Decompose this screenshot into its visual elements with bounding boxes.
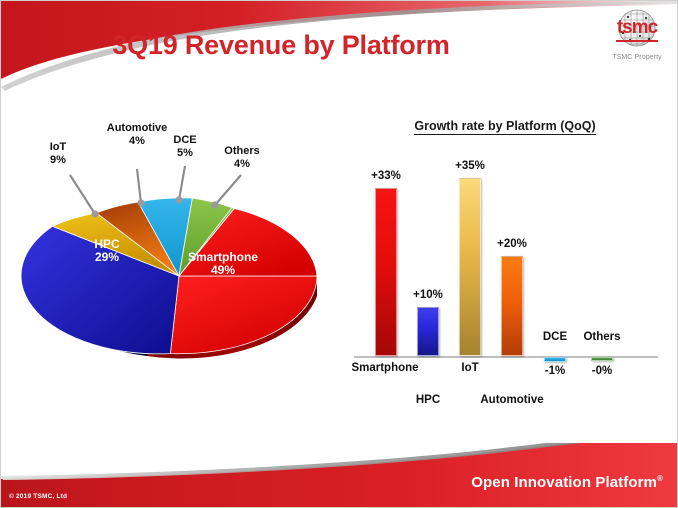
pie-label-automotive-name: Automotive — [107, 122, 168, 134]
slide-canvas: 3Q19 Revenue by Platform — [0, 0, 678, 508]
bar-value-hpc: +10% — [394, 289, 462, 301]
pie-label-smartphone-pct: 49% — [174, 264, 272, 277]
tsmc-logo-underline — [616, 40, 658, 42]
pie-label-others: Others 4% — [214, 145, 270, 170]
growth-bar-chart: Growth rate by Platform (QoQ) +33% Smart… — [346, 119, 664, 404]
bar-category-iot: IoT — [448, 362, 492, 374]
bar-chart-title-text: Growth rate by Platform (QoQ) — [414, 119, 595, 135]
pie-label-others-pct: 4% — [214, 158, 270, 171]
pie-label-iot-pct: 9% — [35, 154, 81, 167]
pie-label-others-name: Others — [224, 145, 259, 157]
bar-smartphone[interactable] — [375, 188, 397, 356]
bar-category-automotive: Automotive — [472, 394, 552, 406]
bar-automotive[interactable] — [501, 256, 523, 356]
page-title: 3Q19 Revenue by Platform — [1, 30, 561, 61]
tsmc-logo-mark: tsmc — [609, 9, 665, 53]
registered-mark-icon: ® — [657, 474, 663, 483]
pie-label-iot: IoT 9% — [35, 141, 81, 166]
pie-label-iot-name: IoT — [50, 141, 67, 153]
pie-wedge-smartphone — [170, 276, 317, 354]
bar-others[interactable] — [591, 357, 613, 361]
tsmc-property-caption: TSMC Property — [601, 54, 673, 61]
tsmc-wordmark: tsmc — [609, 18, 665, 37]
bar-category-smartphone: Smartphone — [344, 362, 426, 374]
revenue-pie-chart: IoT 9% Automotive 4% DCE 5% Others 4% HP… — [19, 113, 339, 363]
pie-label-smartphone: Smartphone 49% — [174, 251, 272, 276]
bar-value-iot: +35% — [436, 160, 504, 172]
bar-category-others: Others — [570, 331, 634, 343]
oip-tagline-text: Open Innovation Platform — [471, 474, 657, 491]
tsmc-logo: tsmc TSMC Property — [601, 9, 673, 71]
bar-hpc[interactable] — [417, 307, 439, 356]
pie-label-dce: DCE 5% — [162, 134, 208, 159]
bar-value-smartphone: +33% — [352, 170, 420, 182]
copyright-text: © 2019 TSMC, Ltd — [9, 493, 67, 500]
bar-category-hpc: HPC — [402, 394, 454, 406]
pie-label-smartphone-name: Smartphone — [188, 250, 258, 264]
open-innovation-platform-tagline: Open Innovation Platform® — [471, 474, 663, 491]
pie-label-dce-pct: 5% — [162, 147, 208, 160]
bar-chart-title: Growth rate by Platform (QoQ) — [346, 119, 664, 133]
pie-label-hpc: HPC 29% — [77, 238, 137, 263]
bar-dce[interactable] — [544, 357, 566, 362]
pie-label-hpc-name: HPC — [94, 237, 119, 251]
bar-value-others: -0% — [570, 365, 634, 377]
bar-value-automotive: +20% — [478, 238, 546, 250]
pie-label-hpc-pct: 29% — [77, 251, 137, 264]
pie-label-dce-name: DCE — [173, 134, 196, 146]
bar-iot[interactable] — [459, 178, 481, 356]
